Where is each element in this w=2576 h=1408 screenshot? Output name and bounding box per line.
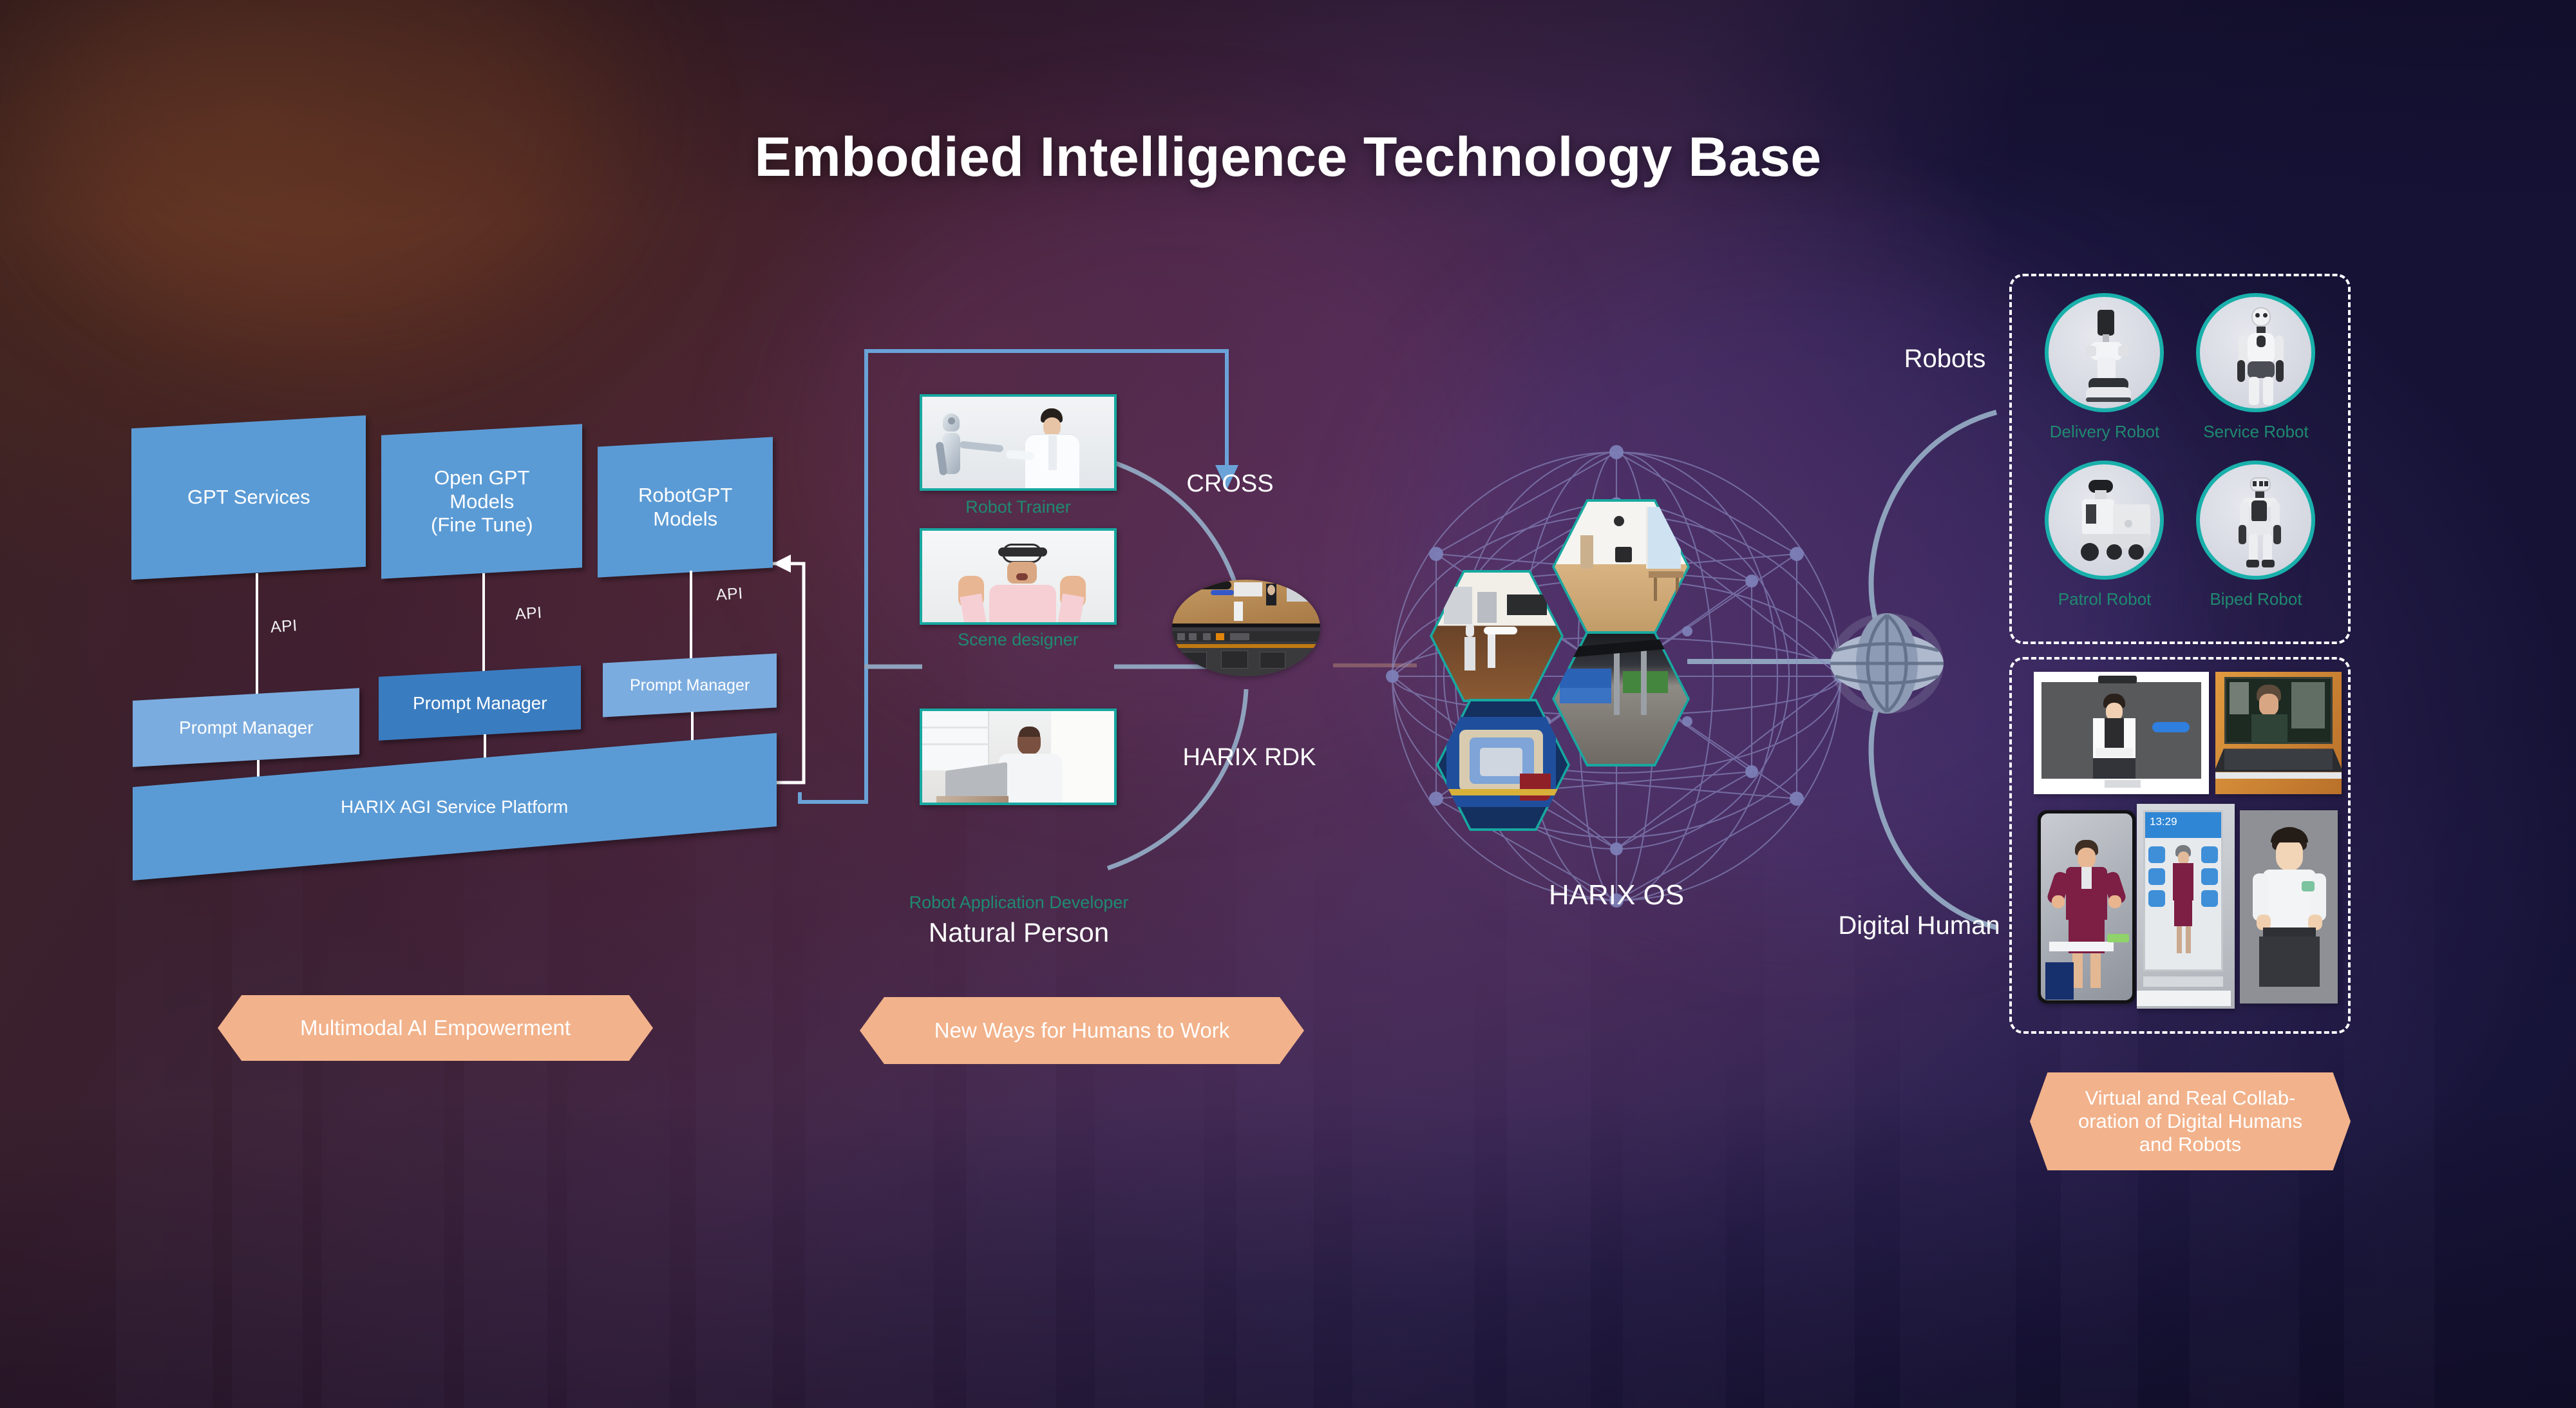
media-standing-kiosk-avatar[interactable]: 13:29 xyxy=(2137,804,2235,1009)
bubble-delivery-robot[interactable] xyxy=(2045,293,2164,412)
banner-label: Virtual and Real Collab- oration of Digi… xyxy=(2078,1087,2302,1157)
banner-virtual-real-collaboration[interactable]: Virtual and Real Collab- oration of Digi… xyxy=(2030,1072,2351,1170)
label-natural-person: Natural Person xyxy=(863,917,1175,948)
model-box-label: GPT Services xyxy=(187,486,310,509)
banner-new-ways-for-humans-to-work[interactable]: New Ways for Humans to Work xyxy=(860,997,1304,1064)
harix-rdk-thumbnail[interactable] xyxy=(1172,580,1320,676)
banner-label: New Ways for Humans to Work xyxy=(934,1018,1229,1043)
label-harix-os: HARIX OS xyxy=(1327,879,1906,911)
model-box-label: Open GPT Models (Fine Tune) xyxy=(431,466,533,537)
caption-service-robot: Service Robot xyxy=(2180,422,2332,442)
api-arrow-gpt-services xyxy=(249,573,265,714)
api-label-2: API xyxy=(515,604,543,624)
caption-robot-app-developer: Robot Application Developer xyxy=(863,893,1175,913)
api-label-1: API xyxy=(270,616,298,637)
caption-patrol-robot: Patrol Robot xyxy=(2029,589,2181,609)
prompt-manager-box-1[interactable]: Prompt Manager xyxy=(133,688,359,767)
globe-icon xyxy=(1823,599,1951,728)
api-label-3: API xyxy=(715,584,744,605)
label-cross: CROSS xyxy=(1166,470,1294,498)
media-kiosk-screen-avatar[interactable] xyxy=(2034,672,2209,794)
caption-delivery-robot: Delivery Robot xyxy=(2029,422,2181,442)
banner-label: Multimodal AI Empowerment xyxy=(300,1016,571,1041)
media-phone-avatar[interactable] xyxy=(2038,810,2136,1004)
model-box-robotgpt-models[interactable]: RobotGPT Models xyxy=(598,437,773,577)
media-laptop-video-call[interactable] xyxy=(2215,672,2342,794)
photo-scene-designer[interactable] xyxy=(920,528,1117,625)
photo-robot-app-developer[interactable] xyxy=(920,709,1117,805)
prompt-manager-label: Prompt Manager xyxy=(179,718,314,738)
caption-robot-trainer: Robot Trainer xyxy=(920,497,1117,517)
prompt-manager-label: Prompt Manager xyxy=(413,693,547,714)
prompt-manager-box-3[interactable]: Prompt Manager xyxy=(603,653,777,717)
banner-multimodal-ai-empowerment[interactable]: Multimodal AI Empowerment xyxy=(218,995,653,1061)
model-box-label: RobotGPT Models xyxy=(638,484,732,531)
model-box-open-gpt-models[interactable]: Open GPT Models (Fine Tune) xyxy=(381,424,582,578)
photo-robot-trainer[interactable] xyxy=(920,394,1117,491)
label-harix-rdk: HARIX RDK xyxy=(1133,744,1365,772)
prompt-manager-label: Prompt Manager xyxy=(630,676,750,695)
bubble-service-robot[interactable] xyxy=(2196,293,2315,412)
model-box-gpt-services[interactable]: GPT Services xyxy=(131,415,366,580)
platform-label: HARIX AGI Service Platform xyxy=(341,797,568,817)
prompt-manager-box-2[interactable]: Prompt Manager xyxy=(379,665,581,741)
media-student-avatar[interactable] xyxy=(2240,810,2338,1004)
bubble-patrol-robot[interactable] xyxy=(2045,461,2164,580)
caption-scene-designer: Scene designer xyxy=(920,630,1117,650)
page-title: Embodied Intelligence Technology Base xyxy=(0,126,2576,189)
harix-os-core: HARIX OS xyxy=(1352,438,1880,928)
caption-biped-robot: Biped Robot xyxy=(2180,589,2332,609)
bubble-biped-robot[interactable] xyxy=(2196,461,2315,580)
